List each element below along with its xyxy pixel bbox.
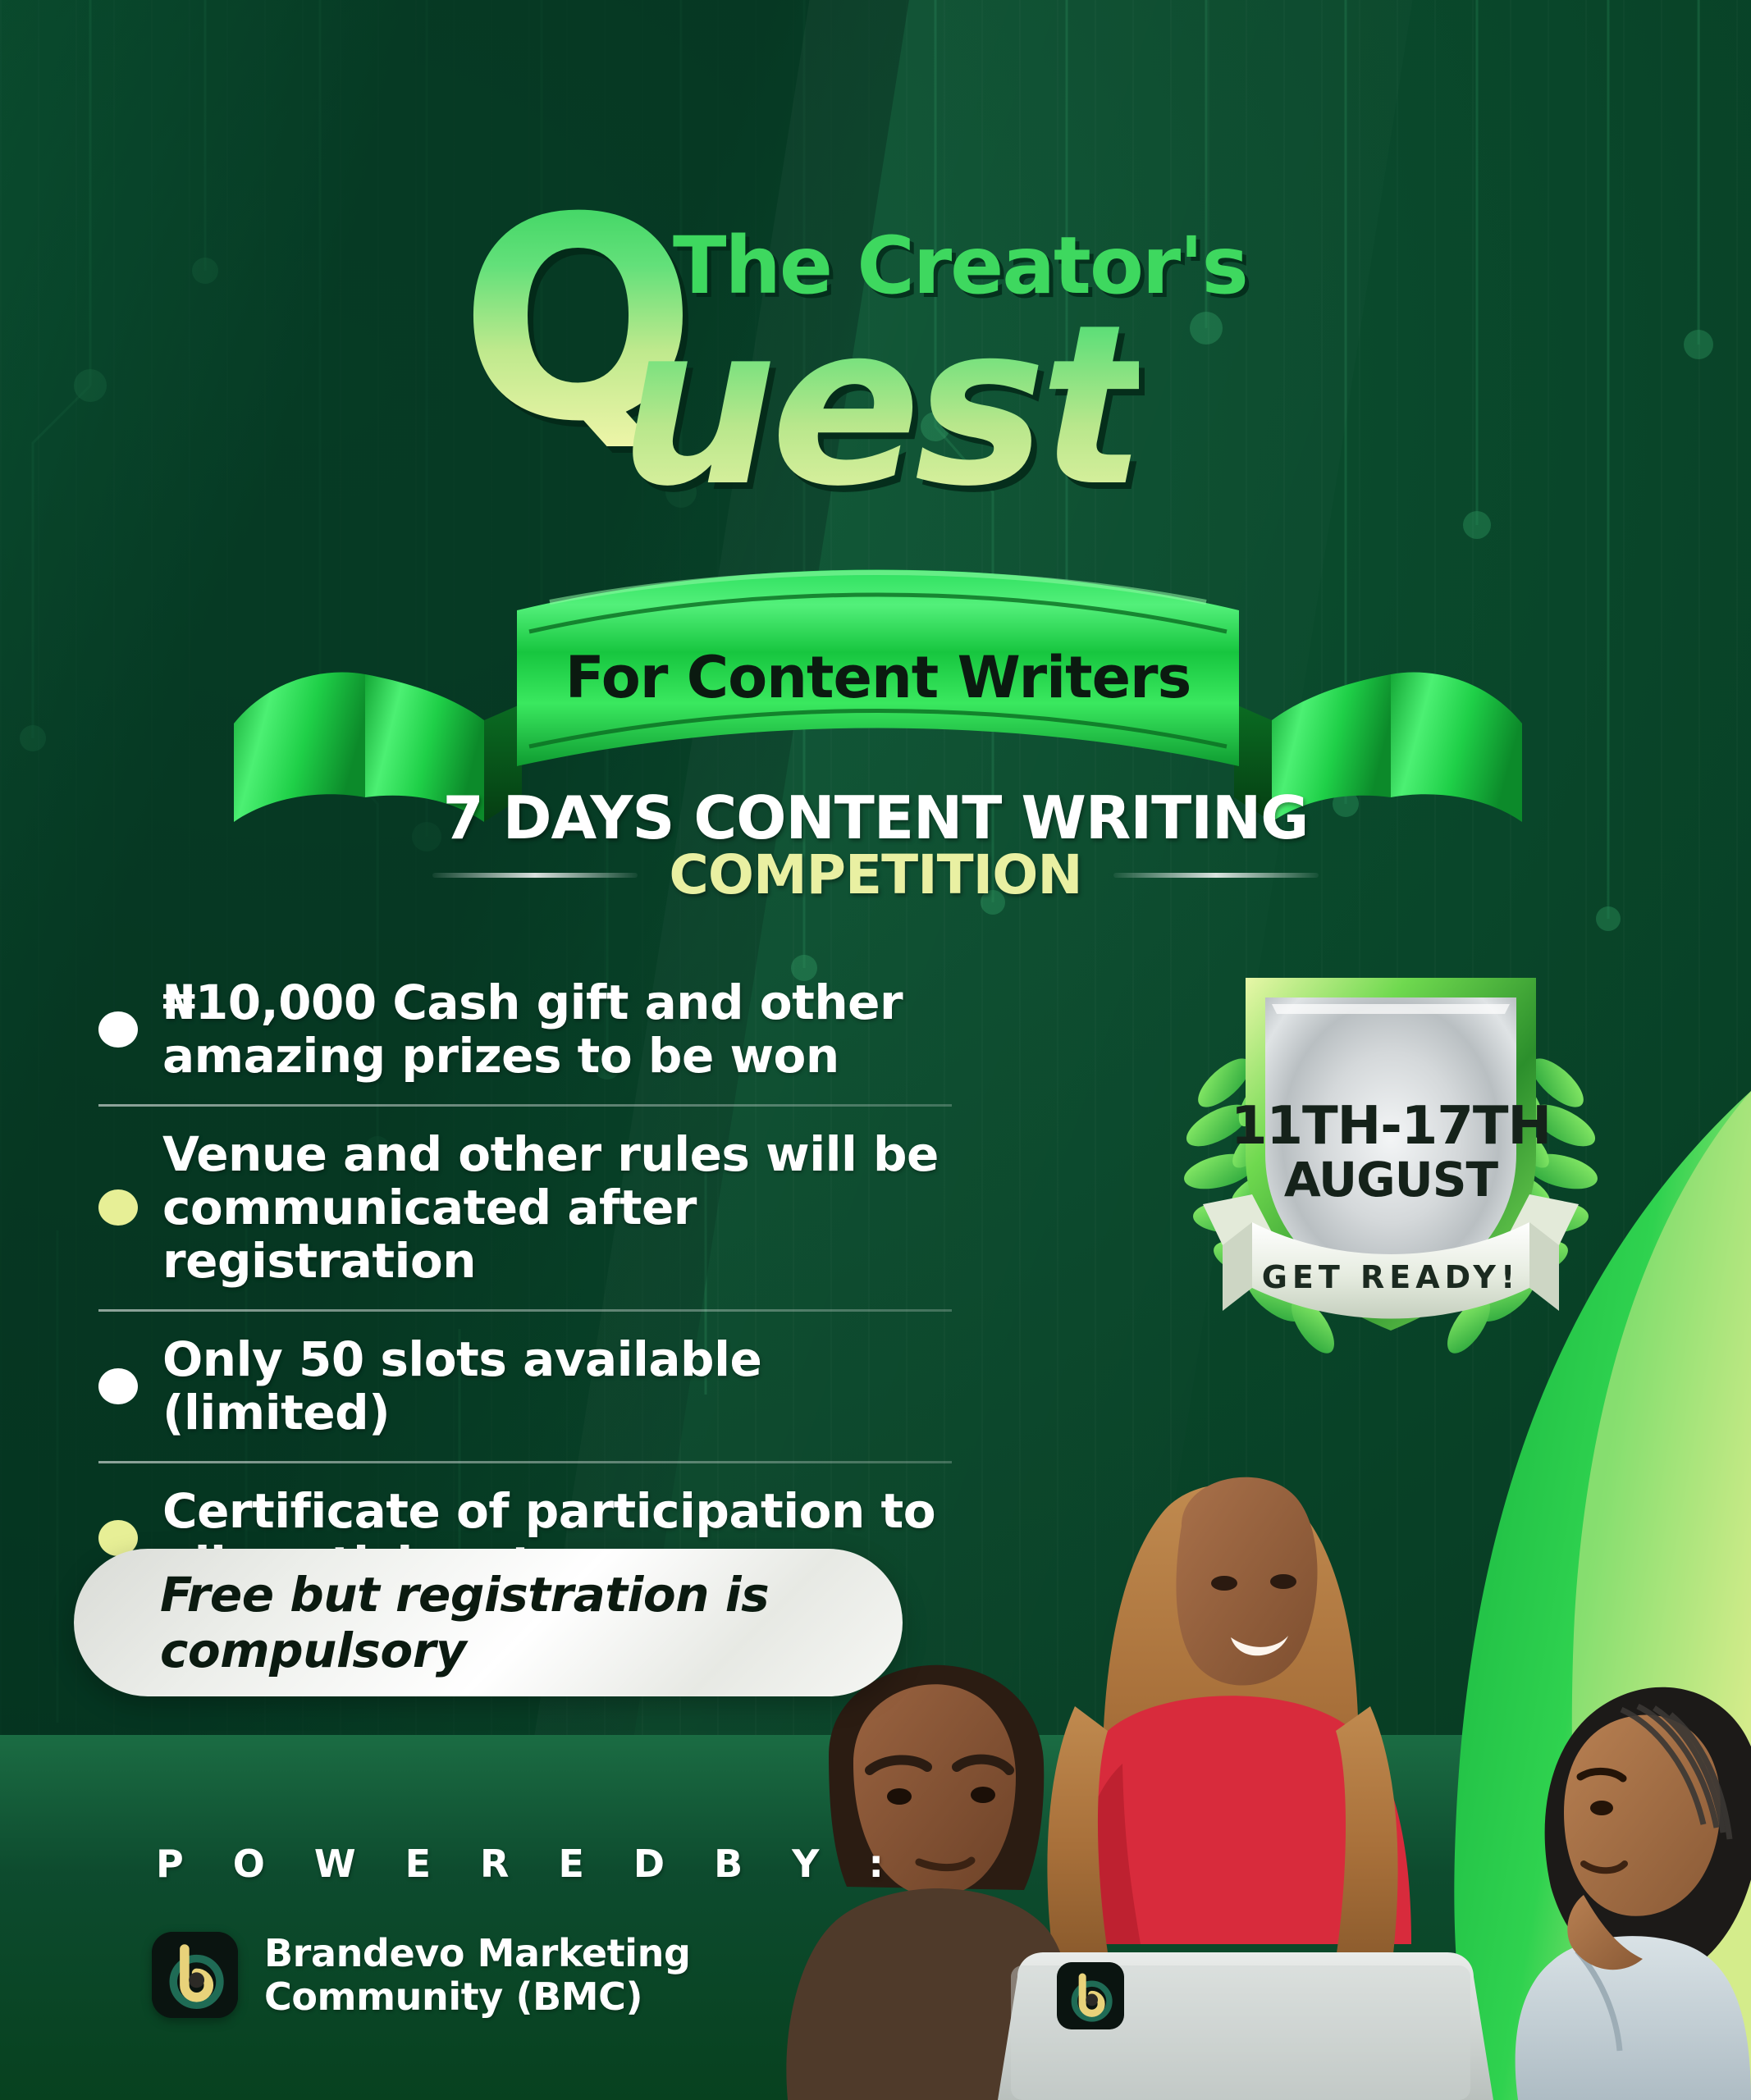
divider-left	[432, 873, 638, 878]
bmc-logo-icon	[1057, 1962, 1124, 2029]
person-right	[1516, 1687, 1751, 2100]
powered-by-label: P O W E R E D B Y :	[156, 1842, 902, 1886]
title-block: Q The Creator's uest	[0, 207, 1751, 535]
person-center	[1047, 1477, 1411, 1969]
list-separator	[98, 1309, 952, 1312]
bmc-logo-icon	[152, 1932, 238, 2018]
registration-note-text: Free but registration is compulsory	[160, 1567, 903, 1678]
brand-row: Brandevo Marketing Community (BMC)	[152, 1932, 691, 2019]
list-item: Venue and other rules will be communicat…	[98, 1128, 960, 1288]
list-separator	[98, 1104, 952, 1107]
ribbon-label: For Content Writers	[222, 644, 1534, 711]
bullet-dot-icon	[98, 1368, 138, 1404]
bullet-text: ₦10,000 Cash gift and other amazing priz…	[162, 976, 903, 1083]
brand-name-line2: Community (BMC)	[264, 1974, 642, 2019]
flyer-canvas: Q The Creator's uest	[0, 0, 1751, 2100]
brand-name-line1: Brandevo Marketing	[264, 1931, 691, 1975]
ribbon-banner: For Content Writers	[222, 551, 1534, 822]
laptop-brand-logo	[1057, 1962, 1124, 2029]
subtitle-line-2-row: COMPETITION	[0, 843, 1751, 906]
bullet-dot-icon	[98, 1011, 138, 1048]
list-item: ₦10,000 Cash gift and other amazing priz…	[98, 976, 960, 1083]
subtitle-line-1: 7 DAYS CONTENT WRITING	[0, 783, 1751, 852]
participants-photo	[722, 1321, 1751, 2100]
badge-month: AUGUST	[1173, 1152, 1608, 1207]
bullet-text: Venue and other rules will be communicat…	[162, 1128, 960, 1288]
badge-call-to-action: GET READY!	[1173, 1259, 1608, 1295]
divider-right	[1113, 873, 1319, 878]
bullet-dot-icon	[98, 1189, 138, 1226]
registration-note-pill: Free but registration is compulsory	[74, 1549, 903, 1696]
date-badge: 11TH-17TH AUGUST GET READY!	[1173, 943, 1608, 1370]
title-main-word: uest	[619, 276, 1139, 535]
subtitle-line-2: COMPETITION	[669, 843, 1081, 906]
brand-name: Brandevo Marketing Community (BMC)	[264, 1932, 691, 2019]
brand-logo	[152, 1932, 238, 2018]
badge-date-range: 11TH-17TH	[1173, 1099, 1608, 1155]
